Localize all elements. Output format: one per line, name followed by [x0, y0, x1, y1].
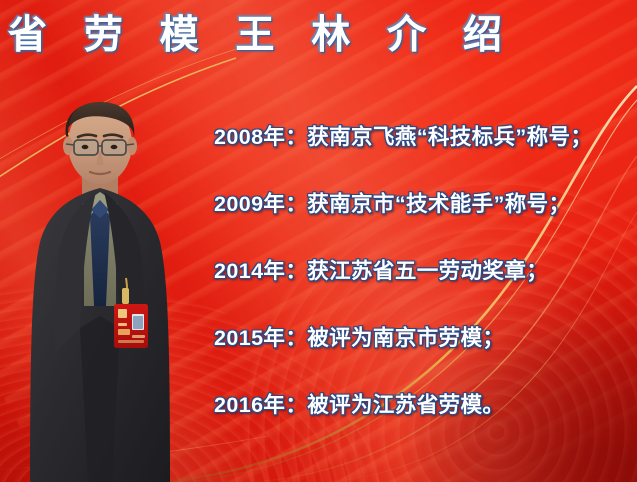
list-item: 2016年：被评为江苏省劳模。 — [214, 390, 624, 457]
title-bar: 省 劳 模 王 林 介 绍 — [0, 0, 637, 74]
page-title: 省 劳 模 王 林 介 绍 — [8, 10, 515, 62]
list-item: 2015年：被评为南京市劳模； — [214, 323, 624, 390]
list-item: 2008年：获南京飞燕“科技标兵”称号； — [214, 122, 624, 189]
portrait-figure — [22, 92, 178, 482]
slide-canvas: 省 劳 模 王 林 介 绍 — [0, 0, 637, 482]
list-item: 2009年：获南京市“技术能手”称号； — [214, 189, 624, 256]
list-item: 2014年：获江苏省五一劳动奖章； — [214, 256, 624, 323]
achievement-list: 2008年：获南京飞燕“科技标兵”称号； 2009年：获南京市“技术能手”称号；… — [214, 122, 624, 457]
portrait-photo — [22, 92, 178, 482]
